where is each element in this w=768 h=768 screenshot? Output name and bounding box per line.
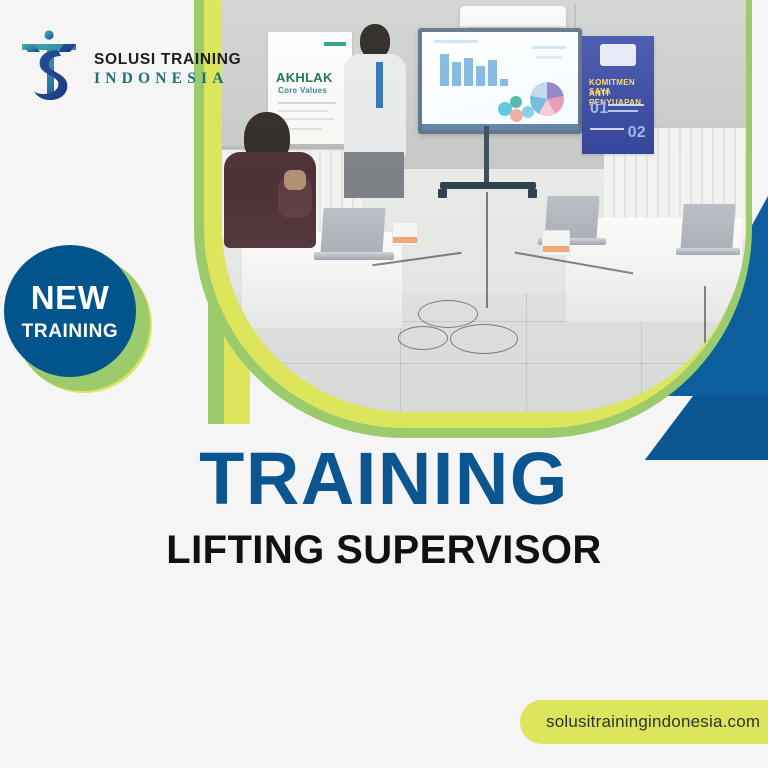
promo-poster: AKHLAK Core Values KOMITMEN SAYA ANTI PE… <box>0 0 768 768</box>
brand-name-line2: INDONESIA <box>94 71 241 87</box>
page-title: TRAINING <box>0 436 768 521</box>
badge-circle: NEW TRAINING <box>4 245 136 377</box>
website-url: solusitrainingindonesia.com <box>546 712 760 732</box>
hero-photo-frame: AKHLAK Core Values KOMITMEN SAYA ANTI PE… <box>208 0 738 424</box>
page-subtitle: LIFTING SUPERVISOR <box>0 528 768 573</box>
website-pill[interactable]: solusitrainingindonesia.com <box>520 700 768 744</box>
badge-label-new: NEW <box>31 281 110 314</box>
badge-label-training: TRAINING <box>22 322 119 341</box>
brand-logo: SOLUSI TRAINING INDONESIA <box>18 28 241 106</box>
ts-monogram-icon <box>18 28 84 106</box>
photo-overlay <box>222 0 746 412</box>
new-training-badge: NEW TRAINING <box>4 245 152 393</box>
brand-logo-text: SOLUSI TRAINING INDONESIA <box>94 48 241 86</box>
brand-name-line1: SOLUSI TRAINING <box>94 52 241 68</box>
hero-photo: AKHLAK Core Values KOMITMEN SAYA ANTI PE… <box>222 0 746 412</box>
